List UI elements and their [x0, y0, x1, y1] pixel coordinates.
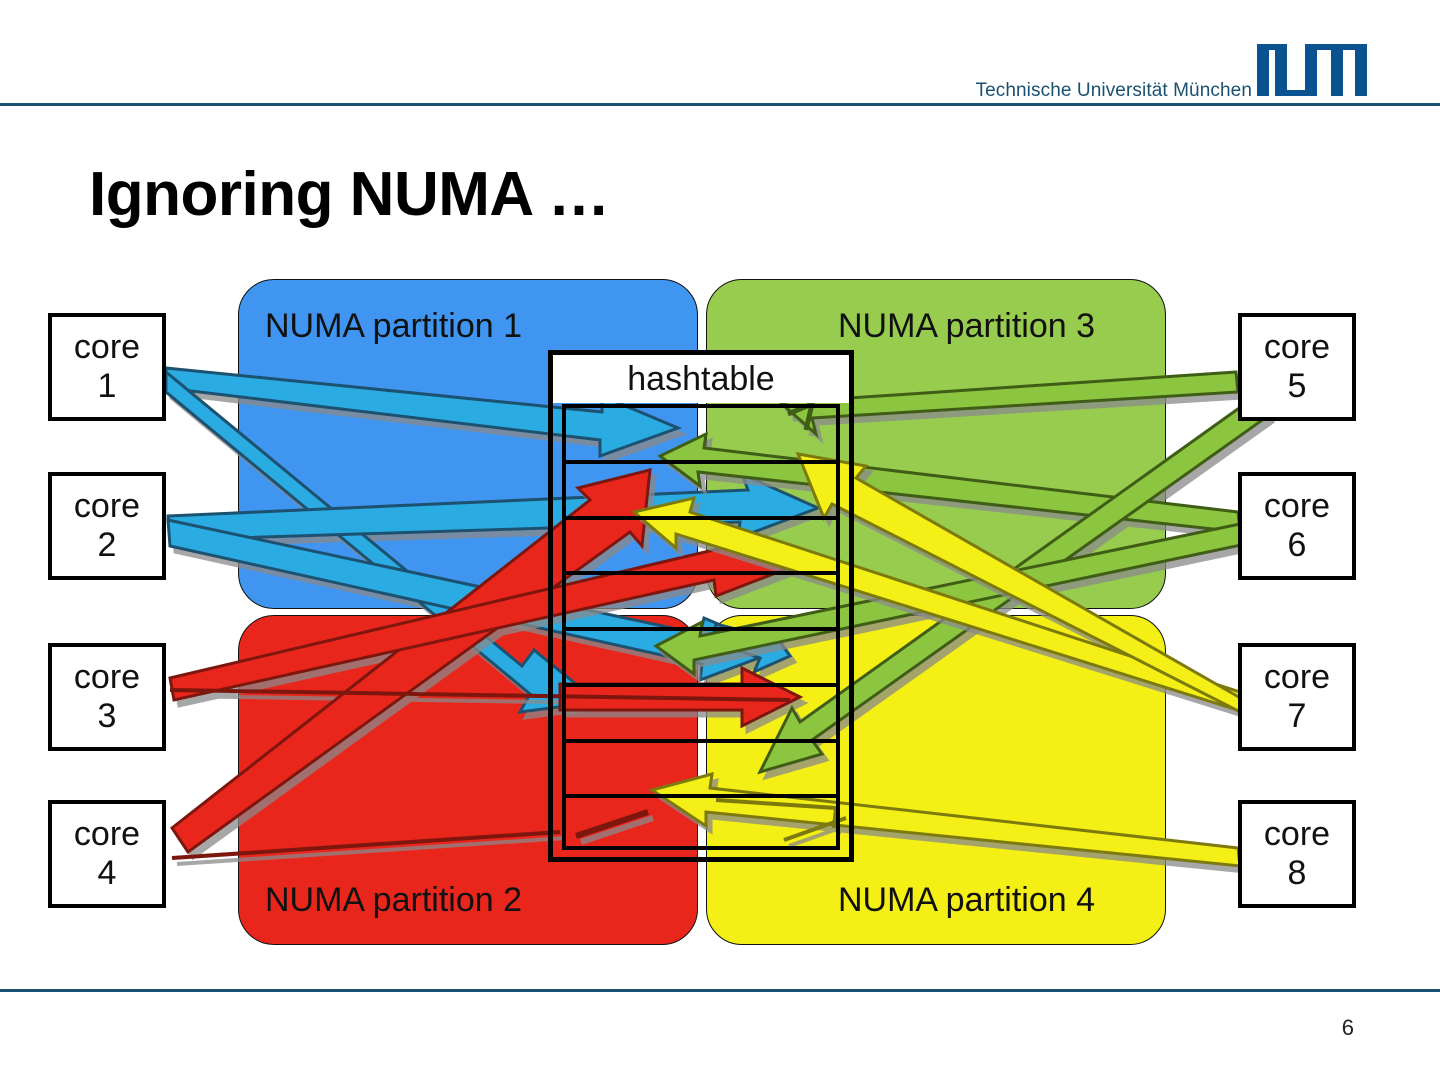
page-number: 6 [1342, 1015, 1354, 1041]
core-box-3[interactable]: core 3 [48, 643, 166, 751]
core-label-line2: 1 [98, 367, 117, 406]
hashtable-bucket-row [566, 575, 836, 631]
numa-diagram: NUMA partition 1 NUMA partition 3 NUMA p… [0, 0, 1440, 1080]
core-box-7[interactable]: core 7 [1238, 643, 1356, 751]
core-box-5[interactable]: core 5 [1238, 313, 1356, 421]
slide: Technische Universität München Ignoring … [0, 0, 1440, 1080]
hashtable-buckets [562, 404, 840, 850]
footer-divider [0, 989, 1440, 992]
hashtable-bucket-row [566, 520, 836, 576]
hashtable-label: hashtable [548, 360, 854, 399]
core-box-6[interactable]: core 6 [1238, 472, 1356, 580]
hashtable-bucket-row [566, 798, 836, 854]
core-label-line1: core [1264, 487, 1330, 526]
core-label-line2: 8 [1288, 854, 1307, 893]
hashtable-bucket-row [566, 687, 836, 743]
core-label-line2: 7 [1288, 697, 1307, 736]
core-box-4[interactable]: core 4 [48, 800, 166, 908]
core-label-line2: 4 [98, 854, 117, 893]
core-box-2[interactable]: core 2 [48, 472, 166, 580]
core-label-line2: 6 [1288, 526, 1307, 565]
core-label-line1: core [74, 487, 140, 526]
core-label-line1: core [1264, 328, 1330, 367]
core-label-line2: 3 [98, 697, 117, 736]
hashtable-bucket-row [566, 631, 836, 687]
core-label-line2: 5 [1288, 367, 1307, 406]
core-box-1[interactable]: core 1 [48, 313, 166, 421]
hashtable-bucket-row [566, 408, 836, 464]
core-label-line1: core [74, 658, 140, 697]
core-label-line1: core [74, 815, 140, 854]
core-label-line1: core [1264, 815, 1330, 854]
core-label-line1: core [74, 328, 140, 367]
core-label-line2: 2 [98, 526, 117, 565]
core-label-line1: core [1264, 658, 1330, 697]
hashtable-bucket-row [566, 743, 836, 799]
hashtable-bucket-row [566, 464, 836, 520]
core-box-8[interactable]: core 8 [1238, 800, 1356, 908]
